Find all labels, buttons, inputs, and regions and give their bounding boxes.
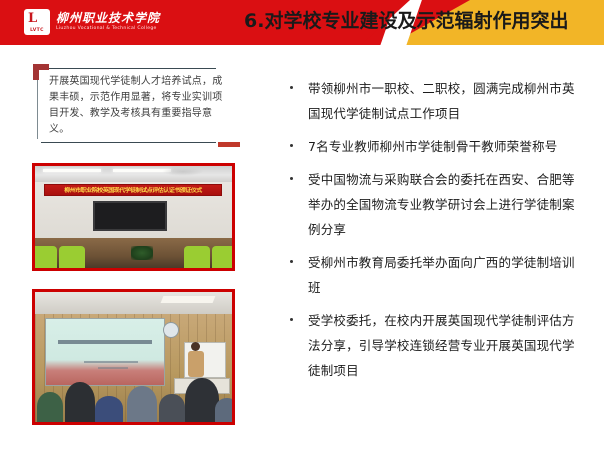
logo-name-en: Liuzhou Vocational & Technical College xyxy=(56,27,160,32)
quote-edge-left xyxy=(37,80,38,139)
photo-2-audience-head xyxy=(127,386,157,422)
logo-abbr: LVTC xyxy=(24,28,50,33)
photo-1-light-1 xyxy=(43,169,101,172)
bullet-text: 带领柳州市一职校、二职校，圆满完成柳州市英国现代学徒制试点工作项目 xyxy=(308,81,575,121)
quote-corner-bottom-right xyxy=(218,142,240,147)
logo-name-cn: 柳州职业技术学院 xyxy=(56,12,160,24)
photo-2-audience-head xyxy=(95,396,123,422)
photo-1-scene: 柳州市职业院校英国现代学徒制试点评估认证书颁证仪式 xyxy=(35,166,232,268)
photo-2-slide-sub-line xyxy=(84,361,138,363)
bullet-text: 受柳州市教育局委托举办面向广西的学徒制培训班 xyxy=(308,255,575,295)
bullet-dot-icon xyxy=(290,144,293,147)
quote-edge-bottom xyxy=(41,142,216,143)
bullet-item: 带领柳州市一职校、二职校，圆满完成柳州市英国现代学徒制试点工作项目 xyxy=(286,76,586,126)
logo-text-block: 柳州职业技术学院 Liuzhou Vocational & Technical … xyxy=(56,12,160,32)
photo-certificate-ceremony: 柳州市职业院校英国现代学徒制试点评估认证书颁证仪式 xyxy=(32,163,235,271)
bullet-text: 受学校委托，在校内开展英国现代学徒制评估方法分享，引导学校连锁经营专业开展英国现… xyxy=(308,313,575,378)
logo-glyph: L xyxy=(28,12,45,25)
photo-2-audience-head xyxy=(65,382,95,422)
bullet-item: 受学校委托，在校内开展英国现代学徒制评估方法分享，引导学校连锁经营专业开展英国现… xyxy=(286,308,586,383)
bullet-dot-icon xyxy=(290,86,293,89)
bullet-text: 受中国物流与采购联合会的委托在西安、合肥等举办的全国物流专业教学研讨会上进行学徒… xyxy=(308,172,575,237)
bullet-item: 7名专业教师柳州市学徒制骨干教师荣誉称号 xyxy=(286,134,586,159)
bullet-item: 受柳州市教育局委托举办面向广西的学徒制培训班 xyxy=(286,250,586,300)
bullet-dot-icon xyxy=(290,177,293,180)
slide-root: L LVTC 柳州职业技术学院 Liuzhou Vocational & Tec… xyxy=(0,0,604,453)
photo-2-slide-title-line xyxy=(58,340,152,344)
bullet-dot-icon xyxy=(290,260,293,263)
photo-2-audience-head xyxy=(159,394,185,422)
quote-callout-box: 开展英国现代学徒制人才培养试点，成果丰硕，示范作用显著，将专业实训项目开发、教学… xyxy=(33,64,238,147)
logo-emblem-icon: L LVTC xyxy=(24,9,50,35)
photo-1-banner: 柳州市职业院校英国现代学徒制试点评估认证书颁证仪式 xyxy=(44,184,222,196)
page-title: 6.对学校专业建设及示范辐射作用突出 xyxy=(244,8,568,34)
bullet-dot-icon xyxy=(290,318,293,321)
photo-1-chair xyxy=(212,246,235,268)
college-logo: L LVTC 柳州职业技术学院 Liuzhou Vocational & Tec… xyxy=(24,9,160,35)
bullet-item: 受中国物流与采购联合会的委托在西安、合肥等举办的全国物流专业教学研讨会上进行学徒… xyxy=(286,167,586,242)
photo-1-chair xyxy=(32,246,57,268)
photo-2-scene xyxy=(35,292,232,422)
bullet-list: 带领柳州市一职校、二职校，圆满完成柳州市英国现代学徒制试点工作项目 7名专业教师… xyxy=(286,76,586,391)
photo-2-audience xyxy=(35,364,232,422)
photo-1-banner-text: 柳州市职业院校英国现代学徒制试点评估认证书颁证仪式 xyxy=(47,186,219,193)
photo-2-audience-head xyxy=(37,392,63,422)
photo-classroom-presentation xyxy=(32,289,235,425)
photo-2-wall-clock-icon xyxy=(163,322,179,338)
photo-1-ceiling-fan xyxy=(162,167,204,176)
photo-1-chair xyxy=(59,246,85,268)
quote-corner-top-left xyxy=(33,64,49,80)
quote-text: 开展英国现代学徒制人才培养试点，成果丰硕，示范作用显著，将专业实训项目开发、教学… xyxy=(49,74,229,138)
photo-1-plant xyxy=(131,246,153,260)
photo-1-chair xyxy=(184,246,210,268)
quote-edge-top xyxy=(49,68,216,69)
photo-2-audience-head xyxy=(215,398,235,422)
photo-2-ceiling-light xyxy=(161,296,216,303)
photo-2-audience-head xyxy=(185,378,219,422)
bullet-text: 7名专业教师柳州市学徒制骨干教师荣誉称号 xyxy=(308,139,557,154)
